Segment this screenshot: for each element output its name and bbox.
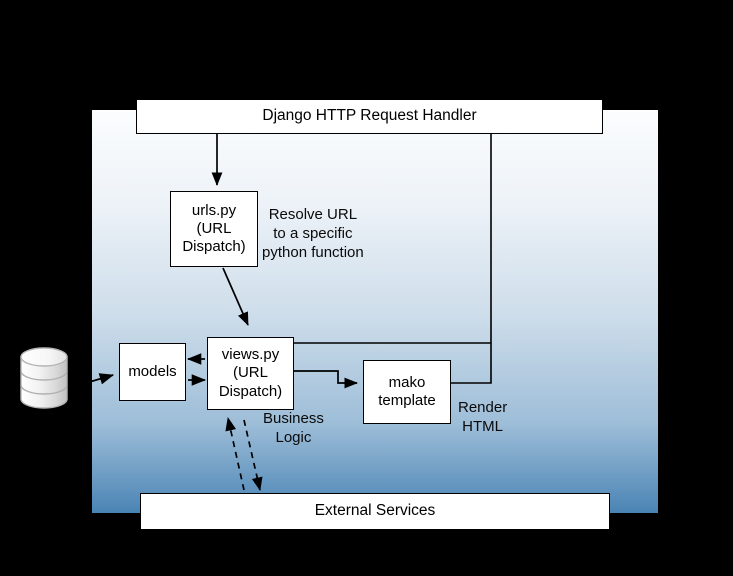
node-django-http-request-handler[interactable]: Django HTTP Request Handler	[136, 99, 603, 134]
mako-label-line1: mako	[364, 374, 450, 392]
annotation-business-line1: Business	[263, 409, 324, 428]
node-models[interactable]: models	[119, 343, 186, 401]
urls-label-line2: (URL	[171, 220, 257, 238]
annotation-resolve-line2: to a specific	[262, 224, 364, 243]
gradient-backdrop-panel	[92, 110, 658, 513]
diagram-canvas: Django HTTP Request Handler urls.py (URL…	[0, 0, 733, 576]
node-urls-py[interactable]: urls.py (URL Dispatch)	[170, 191, 258, 267]
node-external-services[interactable]: External Services	[140, 493, 610, 530]
annotation-resolve-url: Resolve URL to a specific python functio…	[262, 205, 364, 263]
django-header-label: Django HTTP Request Handler	[262, 107, 476, 126]
node-views-py[interactable]: views.py (URL Dispatch)	[207, 337, 294, 410]
annotation-business-logic: Business Logic	[263, 409, 324, 447]
annotation-render-html: Render HTML	[458, 398, 507, 436]
node-mako-template[interactable]: mako template	[363, 360, 451, 424]
annotation-render-line2: HTML	[458, 417, 507, 436]
mako-label-line2: template	[364, 392, 450, 410]
urls-label-line3: Dispatch)	[171, 238, 257, 256]
database-cylinder-icon	[18, 347, 70, 409]
views-label-line3: Dispatch)	[208, 383, 293, 401]
views-label-line1: views.py	[208, 346, 293, 364]
views-label-line2: (URL	[208, 364, 293, 382]
annotation-resolve-line1: Resolve URL	[262, 205, 364, 224]
models-label: models	[128, 363, 176, 381]
external-label: External Services	[315, 502, 436, 521]
annotation-business-line2: Logic	[263, 428, 324, 447]
annotation-resolve-line3: python function	[262, 243, 364, 262]
annotation-render-line1: Render	[458, 398, 507, 417]
urls-label-line1: urls.py	[171, 202, 257, 220]
